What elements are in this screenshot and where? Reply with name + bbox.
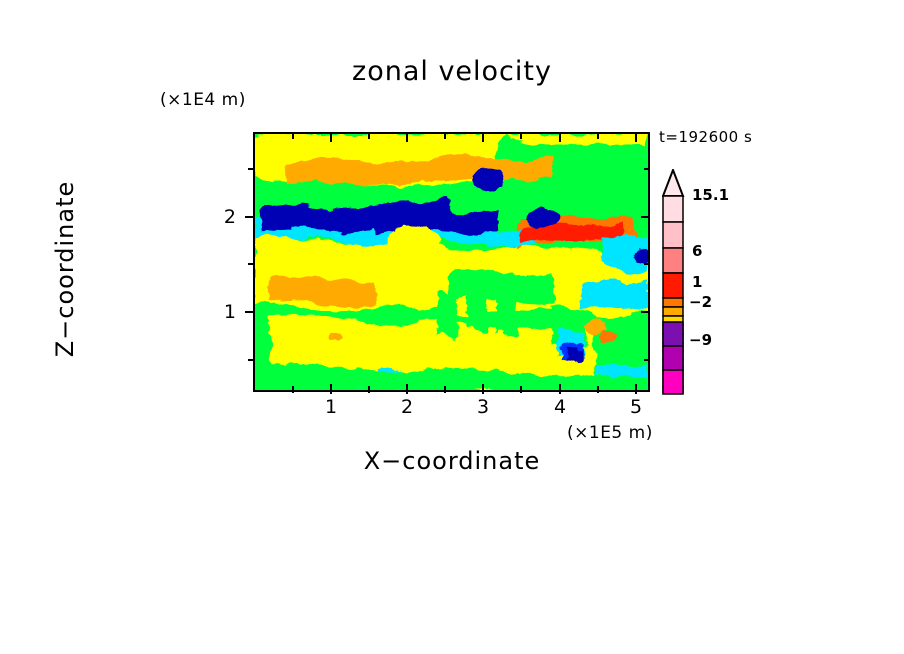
colorbar-label: 1 xyxy=(692,273,702,291)
x-tick-top xyxy=(520,132,522,139)
y-tick-label: 2 xyxy=(196,206,236,228)
y-tick-minor xyxy=(248,168,255,170)
y-tick-right xyxy=(644,359,650,361)
x-axis-title: X−coordinate xyxy=(0,447,904,475)
y-tick-right xyxy=(641,311,650,313)
x-tick-minor xyxy=(520,386,522,393)
y-axis-unit-label: (×1E4 m) xyxy=(160,90,246,110)
colorbar-label: 15.1 xyxy=(692,186,729,204)
x-tick-label: 3 xyxy=(463,396,503,418)
x-tick-minor xyxy=(292,386,294,393)
x-tick-major xyxy=(406,384,408,394)
x-tick-top xyxy=(292,132,294,139)
x-tick-top xyxy=(406,132,408,142)
colorbar-label: 6 xyxy=(692,242,702,260)
y-tick-major xyxy=(245,311,255,313)
colorbar xyxy=(662,169,688,399)
y-tick-label: 1 xyxy=(196,301,236,323)
x-tick-label: 5 xyxy=(616,396,656,418)
x-tick-major xyxy=(330,384,332,394)
x-tick-major xyxy=(482,384,484,394)
x-tick-top xyxy=(559,132,561,142)
x-tick-top xyxy=(444,132,446,139)
x-tick-label: 2 xyxy=(387,396,427,418)
x-tick-major xyxy=(559,384,561,394)
y-axis-title: Z−coordinate xyxy=(51,119,79,419)
x-tick-top xyxy=(330,132,332,142)
x-tick-top xyxy=(635,132,637,142)
x-tick-major xyxy=(635,384,637,394)
colorbar-label: −2 xyxy=(689,293,712,311)
x-tick-label: 1 xyxy=(311,396,351,418)
x-tick-label: 4 xyxy=(540,396,580,418)
chart-title: zonal velocity xyxy=(0,56,904,87)
y-tick-minor xyxy=(248,359,255,361)
x-tick-minor xyxy=(597,386,599,393)
colorbar-swatches-lower xyxy=(662,321,688,395)
x-tick-top xyxy=(482,132,484,142)
x-axis-unit-label: (×1E5 m) xyxy=(567,423,653,443)
x-tick-top xyxy=(368,132,370,139)
contour-plot-area xyxy=(253,132,650,392)
colorbar-extend-tip xyxy=(663,170,683,196)
colorbar-label: −9 xyxy=(689,331,712,349)
y-tick-right xyxy=(644,263,650,265)
x-tick-top xyxy=(597,132,599,139)
x-tick-minor xyxy=(444,386,446,393)
x-tick-minor xyxy=(368,386,370,393)
y-tick-minor xyxy=(248,263,255,265)
y-tick-major xyxy=(245,216,255,218)
y-tick-right xyxy=(644,168,650,170)
contour-field xyxy=(255,134,648,390)
time-annotation: t=192600 s xyxy=(659,128,752,146)
y-tick-right xyxy=(641,216,650,218)
